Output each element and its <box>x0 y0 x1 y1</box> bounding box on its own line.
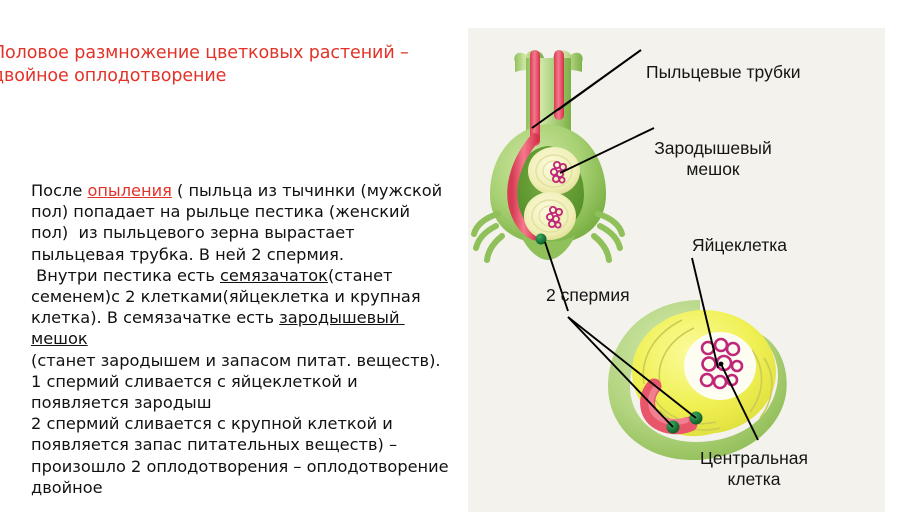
slide-canvas: Половое размножение цветковых растений –… <box>0 0 910 512</box>
para4: 2 спермий сливается с крупной клеткой и … <box>31 414 454 497</box>
label-egg-cell: Яйцеклетка <box>692 235 787 256</box>
label-pollen-tubes: Пыльцевые трубки <box>646 62 800 83</box>
pollen-tube-left <box>530 50 540 146</box>
body-text: После опыления ( пыльца из тычинки (мужс… <box>31 180 451 498</box>
label-embryo-sac: Зародышевый мешок <box>628 138 798 180</box>
para3: (станет зародышем и запасом питат. вещес… <box>31 351 451 412</box>
label-two-sperm: 2 спермия <box>546 285 630 306</box>
para1-prefix: После <box>31 181 87 200</box>
diagram-illustration <box>468 28 885 512</box>
embryo-sac-illustration <box>608 300 787 460</box>
diagram-panel: Пыльцевые трубки Зародышевый мешок Яйцек… <box>468 28 885 512</box>
page-title: Половое размножение цветковых растений –… <box>0 42 432 88</box>
ovule-lower <box>524 192 576 240</box>
ovule-upper <box>528 147 580 195</box>
link-opylenie[interactable]: опыления <box>87 181 171 200</box>
para2-prefix: Внутри пестика есть <box>31 266 220 285</box>
term-semyazachatok: семязачаток <box>220 266 328 285</box>
label-central-cell: Центральная клетка <box>664 448 844 490</box>
